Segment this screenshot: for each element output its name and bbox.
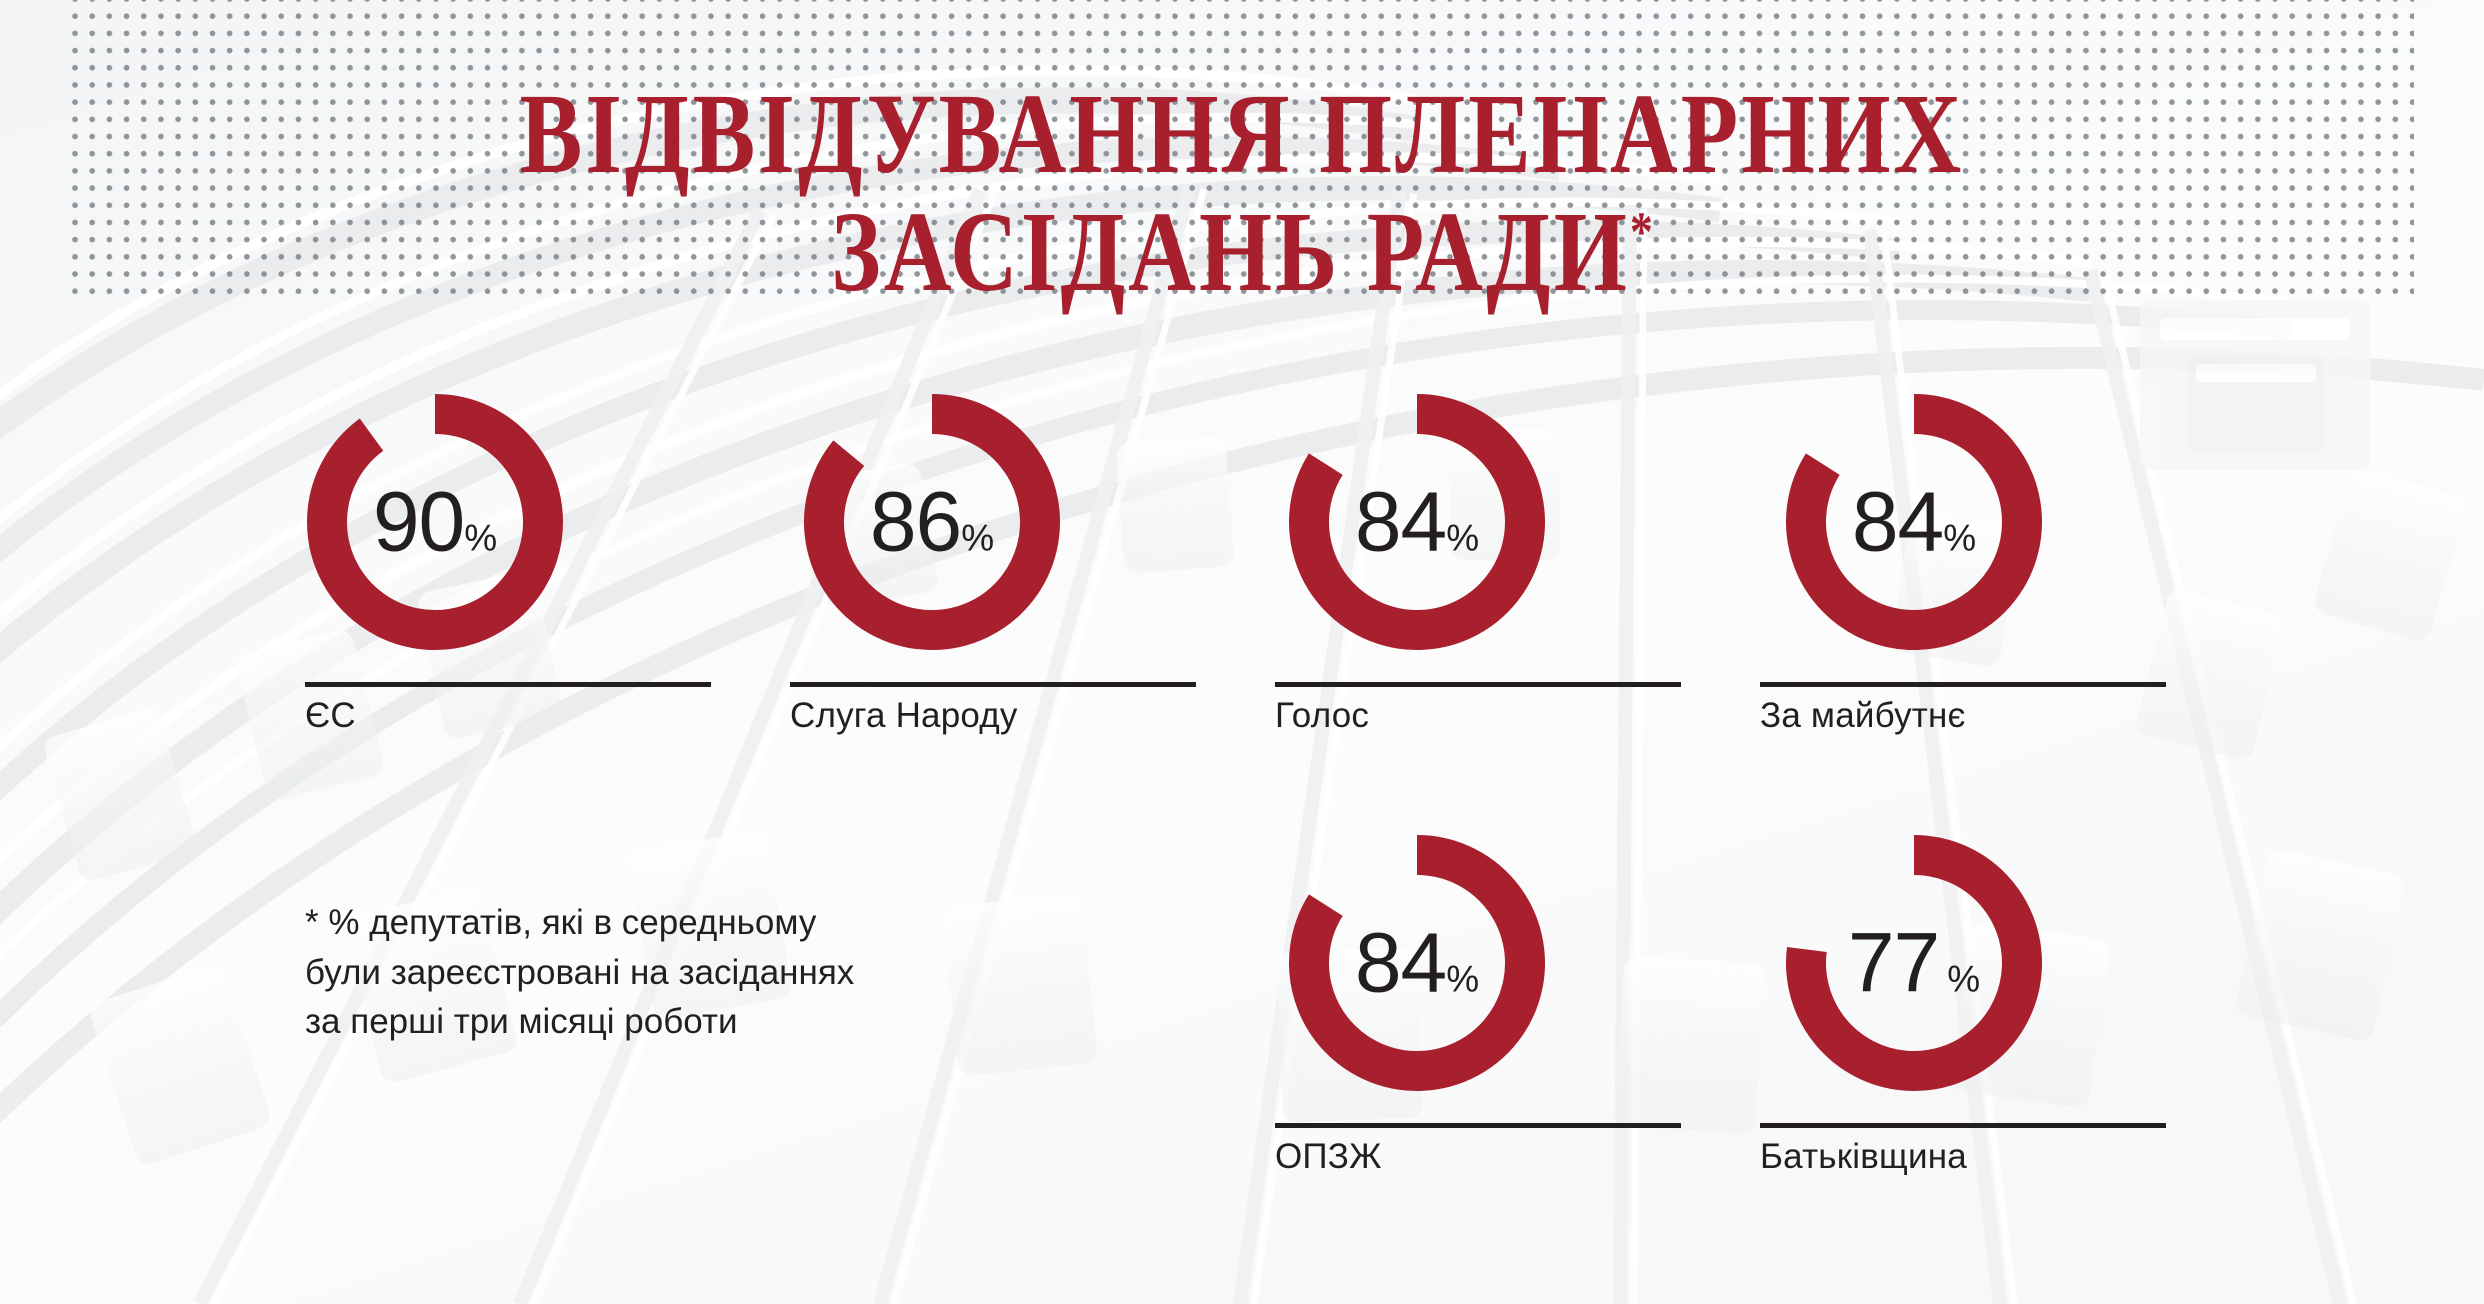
chart-rule-batkivshchyna <box>1760 1123 2166 1128</box>
donut-value-maibutne: 84% <box>1784 474 2044 571</box>
footnote-line-3: за перші три місяці роботи <box>305 997 945 1047</box>
chart-label-holos: Голос <box>1275 696 1695 736</box>
donut-value-batkivshchyna: 77% <box>1784 915 2044 1012</box>
infographic-page: ВІДВІДУВАННЯ ПЛЕНАРНИХ ЗАСІДАНЬ РАДИ* 90… <box>0 0 2484 1304</box>
footnote-note: * % депутатів, які в середньому були зар… <box>305 898 945 1047</box>
donut-number-opzzh: 84 <box>1355 916 1446 1010</box>
donut-chart-opzzh: 84% ОПЗЖ <box>1275 833 1695 1177</box>
footnote-line-1: * % депутатів, які в середньому <box>305 898 945 948</box>
donut-number-sluha: 86 <box>870 475 961 569</box>
donut-ring-holos: 84% <box>1287 392 1547 652</box>
chart-label-batkivshchyna: Батьківщина <box>1760 1137 2180 1177</box>
donut-percent-batkivshchyna: % <box>1947 959 1980 1000</box>
donut-value-es: 90% <box>305 474 565 571</box>
footnote-line-2: були зареєстровані на засіданнях <box>305 948 945 998</box>
chart-label-es: ЄС <box>305 696 725 736</box>
donut-percent-holos: % <box>1446 518 1479 559</box>
donut-chart-holos: 84% Голос <box>1275 392 1695 736</box>
chart-rule-es <box>305 682 711 687</box>
donut-percent-sluha: % <box>961 518 994 559</box>
donut-percent-es: % <box>464 518 497 559</box>
chart-rule-holos <box>1275 682 1681 687</box>
header-dot-pattern-band <box>72 0 2414 296</box>
chart-rule-opzzh <box>1275 1123 1681 1128</box>
donut-ring-batkivshchyna: 77% <box>1784 833 2044 1093</box>
donut-percent-maibutne: % <box>1943 518 1976 559</box>
donut-value-holos: 84% <box>1287 474 1547 571</box>
donut-chart-batkivshchyna: 77% Батьківщина <box>1760 833 2180 1177</box>
donut-chart-maibutne: 84% За майбутнє <box>1760 392 2180 736</box>
donut-ring-sluha: 86% <box>802 392 1062 652</box>
donut-percent-opzzh: % <box>1446 959 1479 1000</box>
donut-number-maibutne: 84 <box>1852 475 1943 569</box>
donut-value-opzzh: 84% <box>1287 915 1547 1012</box>
donut-ring-maibutne: 84% <box>1784 392 2044 652</box>
chart-label-opzzh: ОПЗЖ <box>1275 1137 1695 1177</box>
donut-value-sluha: 86% <box>802 474 1062 571</box>
donut-ring-es: 90% <box>305 392 565 652</box>
donut-chart-es: 90% ЄС <box>305 392 725 736</box>
chart-rule-maibutne <box>1760 682 2166 687</box>
donut-number-batkivshchyna: 77 <box>1848 916 1939 1010</box>
chart-label-sluha: Слуга Народу <box>790 696 1210 736</box>
donut-number-holos: 84 <box>1355 475 1446 569</box>
donut-ring-opzzh: 84% <box>1287 833 1547 1093</box>
donut-chart-sluha: 86% Слуга Народу <box>790 392 1210 736</box>
chart-label-maibutne: За майбутнє <box>1760 696 2180 736</box>
chart-rule-sluha <box>790 682 1196 687</box>
donut-number-es: 90 <box>373 475 464 569</box>
